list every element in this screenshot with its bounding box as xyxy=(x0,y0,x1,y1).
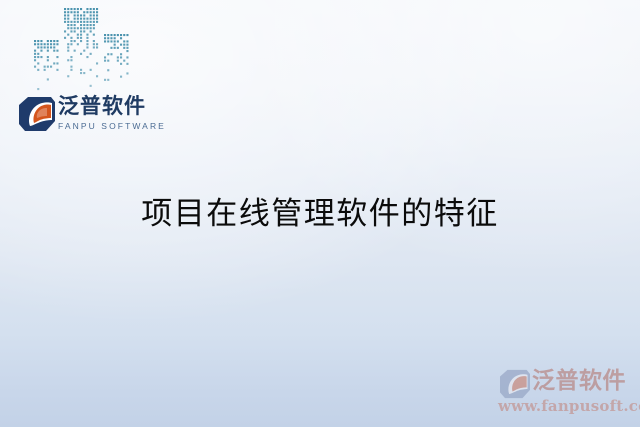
skyline-svg xyxy=(26,6,136,94)
pixelated-skyline-icon xyxy=(26,6,136,94)
logo-mark-svg xyxy=(18,96,56,132)
fanpu-logo-icon xyxy=(18,96,56,132)
watermark-name-cn: 泛普软件 xyxy=(532,366,626,396)
logo-name-cn: 泛普软件 xyxy=(58,94,158,119)
brand-block: 泛普软件 FANPU SOFTWARE xyxy=(18,6,168,141)
logo-name-en: FANPU SOFTWARE xyxy=(58,120,158,132)
watermark-mark-svg xyxy=(498,369,532,399)
slide-title: 项目在线管理软件的特征 xyxy=(0,193,640,235)
fanpu-logo: 泛普软件 FANPU SOFTWARE xyxy=(18,94,158,139)
watermark: 泛普软件 www.fanpusoft.com xyxy=(496,363,632,419)
fanpu-logo-watermark-icon xyxy=(498,369,532,399)
fanpu-logo-text: 泛普软件 FANPU SOFTWARE xyxy=(58,94,158,136)
watermark-url: www.fanpusoft.com xyxy=(498,397,640,415)
presentation-slide: 泛普软件 FANPU SOFTWARE 项目在线管理软件的特征 泛普软件 www… xyxy=(0,0,640,427)
